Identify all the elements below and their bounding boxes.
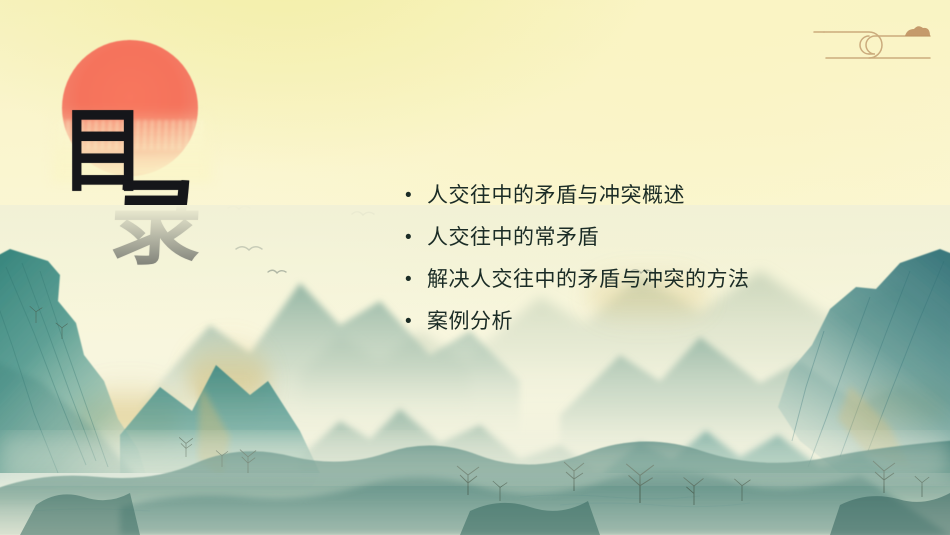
bullet-icon: • xyxy=(405,182,427,210)
bullet-icon: • xyxy=(405,224,427,252)
slide-canvas: 目 录 xyxy=(0,0,950,535)
list-item[interactable]: • 案例分析 xyxy=(405,308,835,336)
toc-item-label: 案例分析 xyxy=(427,308,513,336)
bullet-icon: • xyxy=(405,266,427,294)
toc-item-label: 解决人交往中的矛盾与冲突的方法 xyxy=(427,266,750,294)
toc-list: • 人交往中的矛盾与冲突概述 • 人交往中的常矛盾 • 解决人交往中的矛盾与冲突… xyxy=(405,182,835,336)
bullet-icon: • xyxy=(405,308,427,336)
list-item[interactable]: • 人交往中的常矛盾 xyxy=(405,224,835,252)
list-item[interactable]: • 人交往中的矛盾与冲突概述 xyxy=(405,182,835,210)
list-item[interactable]: • 解决人交往中的矛盾与冲突的方法 xyxy=(405,266,835,294)
toc-item-label: 人交往中的矛盾与冲突概述 xyxy=(427,182,685,210)
cloud-wave-motif-icon xyxy=(812,20,932,72)
toc-item-label: 人交往中的常矛盾 xyxy=(427,224,599,252)
small-cloud-puff-icon xyxy=(905,26,930,36)
